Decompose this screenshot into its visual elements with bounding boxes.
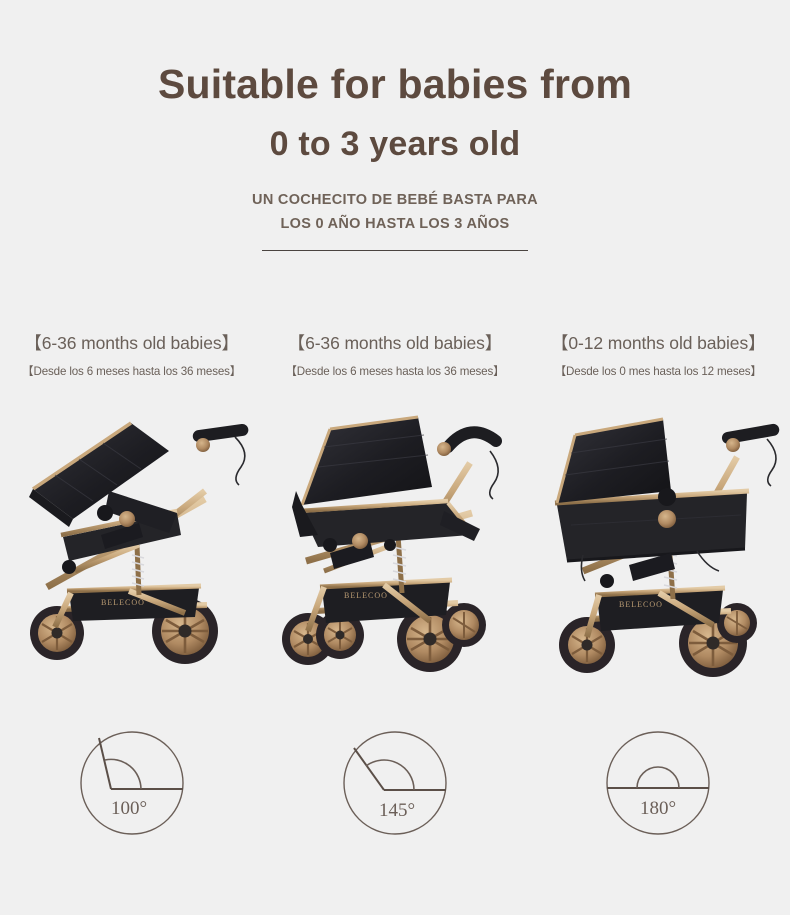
stroller-upright-illustration: BELECOO bbox=[9, 395, 254, 695]
basket-brand-text: BELECOO bbox=[101, 598, 145, 607]
handlebar bbox=[192, 423, 249, 452]
angle-indicator-3: 180° bbox=[527, 728, 790, 838]
stroller-images: BELECOO bbox=[0, 395, 790, 695]
side-strap bbox=[697, 551, 719, 571]
hero-subtitle-line1: UN COCHECITO DE BEBÉ BASTA PARA bbox=[0, 189, 790, 213]
frame-medallion bbox=[352, 533, 368, 549]
hero-divider bbox=[262, 250, 528, 251]
angle-indicators: 100° 145° 180° bbox=[0, 728, 790, 838]
column-title: 【6-36 months old babies】 bbox=[288, 330, 503, 355]
column-title: 【0-12 months old babies】 bbox=[551, 330, 766, 355]
lower-joint bbox=[62, 560, 76, 574]
handlebar bbox=[721, 423, 780, 452]
handle-medallion bbox=[726, 438, 740, 452]
hero-subtitle-line2: LOS 0 AÑO HASTA LOS 3 AÑOS bbox=[0, 213, 790, 237]
folding-joint bbox=[323, 538, 337, 552]
stroller-image-3: BELECOO bbox=[527, 395, 790, 695]
hood-joint bbox=[658, 488, 676, 506]
frame-medallion bbox=[658, 510, 676, 528]
angle-value-label: 180° bbox=[640, 798, 676, 819]
column-subtitle: 【Desde los 0 mes hasta los 12 meses】 bbox=[555, 363, 762, 379]
handle-medallion bbox=[437, 442, 451, 456]
stroller-reclined-illustration: BELECOO bbox=[272, 395, 517, 695]
page-title-line2: 0 to 3 years old bbox=[0, 126, 790, 163]
angle-diagram-180: 180° bbox=[603, 728, 713, 838]
angle-ray-open bbox=[99, 738, 111, 789]
lower-joint bbox=[384, 539, 396, 551]
angle-arc bbox=[637, 767, 679, 788]
handlebar bbox=[437, 432, 496, 456]
column-subtitle: 【Desde los 6 meses hasta los 36 meses】 bbox=[285, 363, 504, 379]
angle-value-label: 100° bbox=[111, 798, 147, 819]
angle-diagram-100: 100° bbox=[77, 728, 187, 838]
basket-brand-text: BELECOO bbox=[619, 600, 663, 609]
angle-diagram-145: 145° bbox=[340, 728, 450, 838]
folding-joint bbox=[97, 505, 113, 521]
stroller-image-2: BELECOO bbox=[263, 395, 526, 695]
column-subtitle: 【Desde los 6 meses hasta los 36 meses】 bbox=[22, 363, 241, 379]
hero-subtitle: UN COCHECITO DE BEBÉ BASTA PARA LOS 0 AÑ… bbox=[0, 189, 790, 237]
angle-value-label: 145° bbox=[379, 800, 415, 821]
angle-ray-open bbox=[354, 748, 384, 790]
handle-medallion bbox=[196, 438, 210, 452]
basket-brand-text: BELECOO bbox=[344, 591, 388, 600]
wrist-strap bbox=[490, 451, 498, 499]
folding-joint bbox=[600, 574, 614, 588]
column-heading-1: 【6-36 months old babies】 【Desde los 6 me… bbox=[0, 330, 263, 379]
column-heading-2: 【6-36 months old babies】 【Desde los 6 me… bbox=[263, 330, 526, 379]
bassinet-hood bbox=[557, 419, 671, 503]
angle-indicator-2: 145° bbox=[263, 728, 526, 838]
column-headings: 【6-36 months old babies】 【Desde los 6 me… bbox=[0, 330, 790, 379]
stroller-image-1: BELECOO bbox=[0, 395, 263, 695]
bassinet-body bbox=[555, 491, 749, 561]
rear-secondary-wheel bbox=[442, 603, 486, 647]
wrist-strap bbox=[767, 439, 776, 486]
column-heading-3: 【0-12 months old babies】 【Desde los 0 me… bbox=[527, 330, 790, 379]
frame-medallion bbox=[119, 511, 135, 527]
column-title: 【6-36 months old babies】 bbox=[24, 330, 239, 355]
hero-header: Suitable for babies from 0 to 3 years ol… bbox=[0, 0, 790, 251]
angle-indicator-1: 100° bbox=[0, 728, 263, 838]
wrist-strap bbox=[235, 437, 245, 485]
page-title-line1: Suitable for babies from bbox=[0, 62, 790, 107]
stroller-bassinet-illustration: BELECOO bbox=[531, 395, 786, 695]
